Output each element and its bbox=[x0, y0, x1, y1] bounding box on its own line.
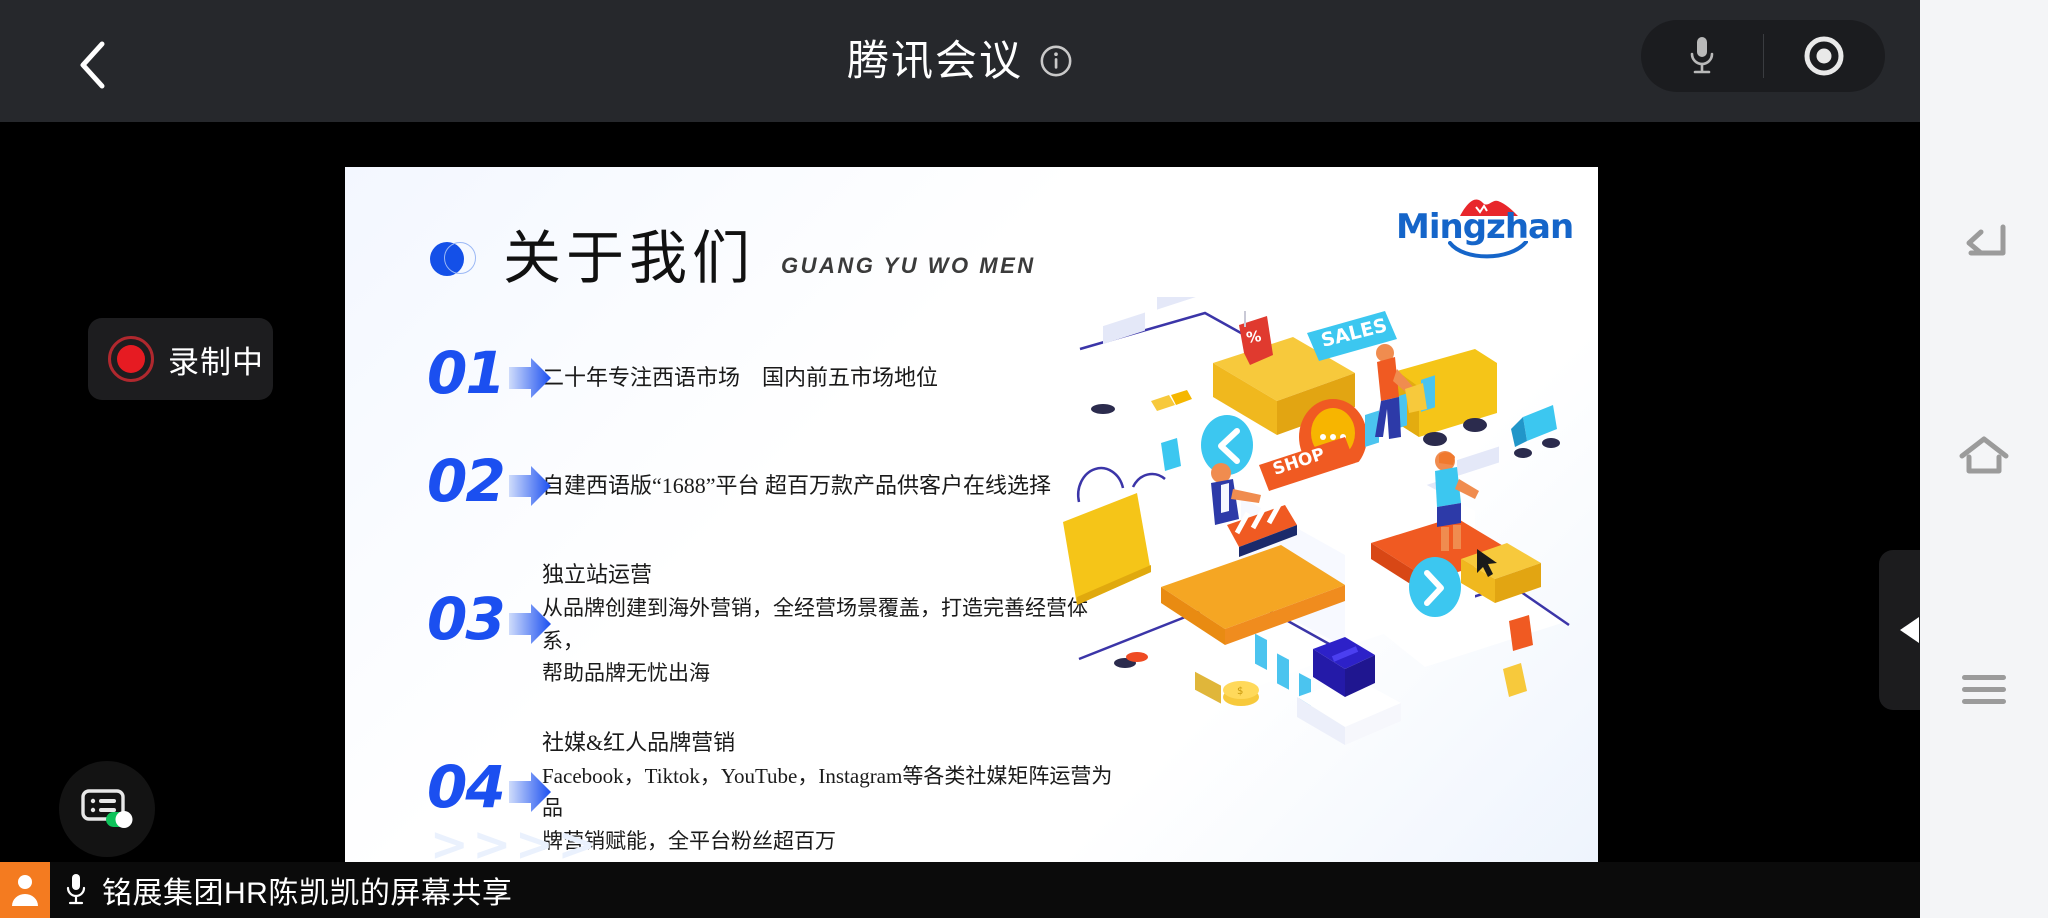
home-icon bbox=[1958, 436, 2010, 478]
microphone-icon bbox=[1687, 34, 1717, 78]
shared-screen-stage: Mingzhan 关于我们 GUANG YU WO MEN 01 bbox=[0, 122, 1920, 862]
info-circle-icon[interactable] bbox=[1039, 44, 1073, 78]
recording-badge: 录制中 bbox=[88, 318, 273, 400]
nav-menu-button[interactable] bbox=[1920, 645, 2048, 735]
svg-text:$: $ bbox=[1237, 686, 1243, 697]
arrow-right-icon bbox=[509, 604, 551, 644]
double-dot-icon bbox=[430, 242, 478, 276]
captions-toggle-button[interactable] bbox=[59, 761, 155, 857]
item-number: 02 bbox=[427, 452, 504, 510]
controls-divider bbox=[1763, 34, 1764, 78]
app-header: 腾讯会议 bbox=[0, 0, 1920, 122]
item-detail-line: 从品牌创建到海外营销，全经营场景覆盖，打造完善经营体系， bbox=[542, 592, 1127, 657]
record-button[interactable] bbox=[1763, 20, 1885, 92]
share-mic-button[interactable] bbox=[50, 872, 102, 908]
presentation-slide[interactable]: Mingzhan 关于我们 GUANG YU WO MEN 01 bbox=[345, 167, 1598, 867]
arrow-right-icon bbox=[509, 466, 551, 506]
arrow-right-icon bbox=[509, 772, 551, 812]
slide-points-list: 01 二十年专注西语市场 国内前五市场地位 bbox=[427, 342, 1127, 867]
page-title: 腾讯会议 bbox=[847, 40, 1023, 82]
record-circle-icon bbox=[1803, 35, 1845, 77]
item-number: 04 bbox=[427, 758, 504, 816]
item-number: 01 bbox=[427, 344, 504, 402]
item-body: 独立站运营 从品牌创建到海外营销，全经营场景覆盖，打造完善经营体系， 帮助品牌无… bbox=[542, 558, 1127, 690]
recording-label: 录制中 bbox=[168, 337, 264, 382]
isometric-ecommerce-illustration: % SALES bbox=[1045, 297, 1585, 747]
item-detail-line: 帮助品牌无忧出海 bbox=[542, 657, 1127, 690]
item-detail-line: 牌营销赋能，全平台粉丝超百万 bbox=[542, 825, 1127, 858]
person-icon bbox=[9, 873, 41, 907]
slide-heading-group: 关于我们 GUANG YU WO MEN bbox=[430, 230, 1036, 288]
system-navigation-bar bbox=[1920, 0, 2048, 918]
item-title: 社媒&红人品牌营销 bbox=[542, 726, 1127, 760]
header-controls-pill bbox=[1641, 20, 1885, 92]
brand-logo: Mingzhan bbox=[1396, 185, 1566, 265]
arrow-right-icon bbox=[509, 358, 551, 398]
microphone-icon bbox=[64, 872, 88, 908]
item-title: 自建西语版“1688”平台 超百万款产品供客户在线选择 bbox=[542, 469, 1127, 503]
nav-bar-footer-filler bbox=[1920, 862, 2048, 918]
swoosh-icon bbox=[1448, 241, 1528, 261]
avatar bbox=[0, 862, 50, 918]
slide-watermark: >>>> bbox=[430, 817, 600, 867]
header-title-group: 腾讯会议 bbox=[0, 0, 1920, 122]
item-number-badge: 02 bbox=[427, 450, 542, 522]
slide-heading-pinyin: GUANG YU WO MEN bbox=[781, 253, 1036, 279]
item-title: 独立站运营 bbox=[542, 558, 1127, 592]
item-body: 自建西语版“1688”平台 超百万款产品供客户在线选择 bbox=[542, 469, 1127, 503]
nav-back-button[interactable] bbox=[1920, 196, 2048, 286]
screen-root: 腾讯会议 bbox=[0, 0, 2048, 918]
item-body: 社媒&红人品牌营销 Facebook，Tiktok，YouTube，Instag… bbox=[542, 726, 1127, 858]
list-item: 02 自建西语版“1688”平台 超百万款产品供客户在线选择 bbox=[427, 450, 1127, 522]
item-number: 03 bbox=[427, 590, 504, 648]
slide-heading: 关于我们 bbox=[503, 230, 755, 288]
item-title: 二十年专注西语市场 国内前五市场地位 bbox=[542, 361, 1127, 395]
svg-text:%: % bbox=[1245, 327, 1262, 347]
list-item: 01 二十年专注西语市场 国内前五市场地位 bbox=[427, 342, 1127, 414]
item-number-badge: 03 bbox=[427, 588, 542, 660]
share-status-text: 铭展集团HR陈凯凯的屏幕共享 bbox=[102, 868, 512, 912]
screen-share-status-bar: 铭展集团HR陈凯凯的屏幕共享 bbox=[0, 862, 1920, 918]
back-arrow-icon bbox=[1959, 219, 2009, 263]
item-body: 二十年专注西语市场 国内前五市场地位 bbox=[542, 361, 1127, 395]
nav-home-button[interactable] bbox=[1920, 412, 2048, 502]
item-detail-line: Facebook，Tiktok，YouTube，Instagram等各类社媒矩阵… bbox=[542, 760, 1127, 825]
list-item: 03 独立站运营 从品牌创建到海外营销，全经营场景覆盖，打造完善经营体系， 帮助… bbox=[427, 558, 1127, 690]
record-red-dot-icon bbox=[108, 336, 154, 382]
closed-captions-icon bbox=[80, 787, 134, 831]
hamburger-menu-icon bbox=[1960, 673, 2008, 707]
mic-button[interactable] bbox=[1641, 20, 1763, 92]
item-number-badge: 01 bbox=[427, 342, 542, 414]
